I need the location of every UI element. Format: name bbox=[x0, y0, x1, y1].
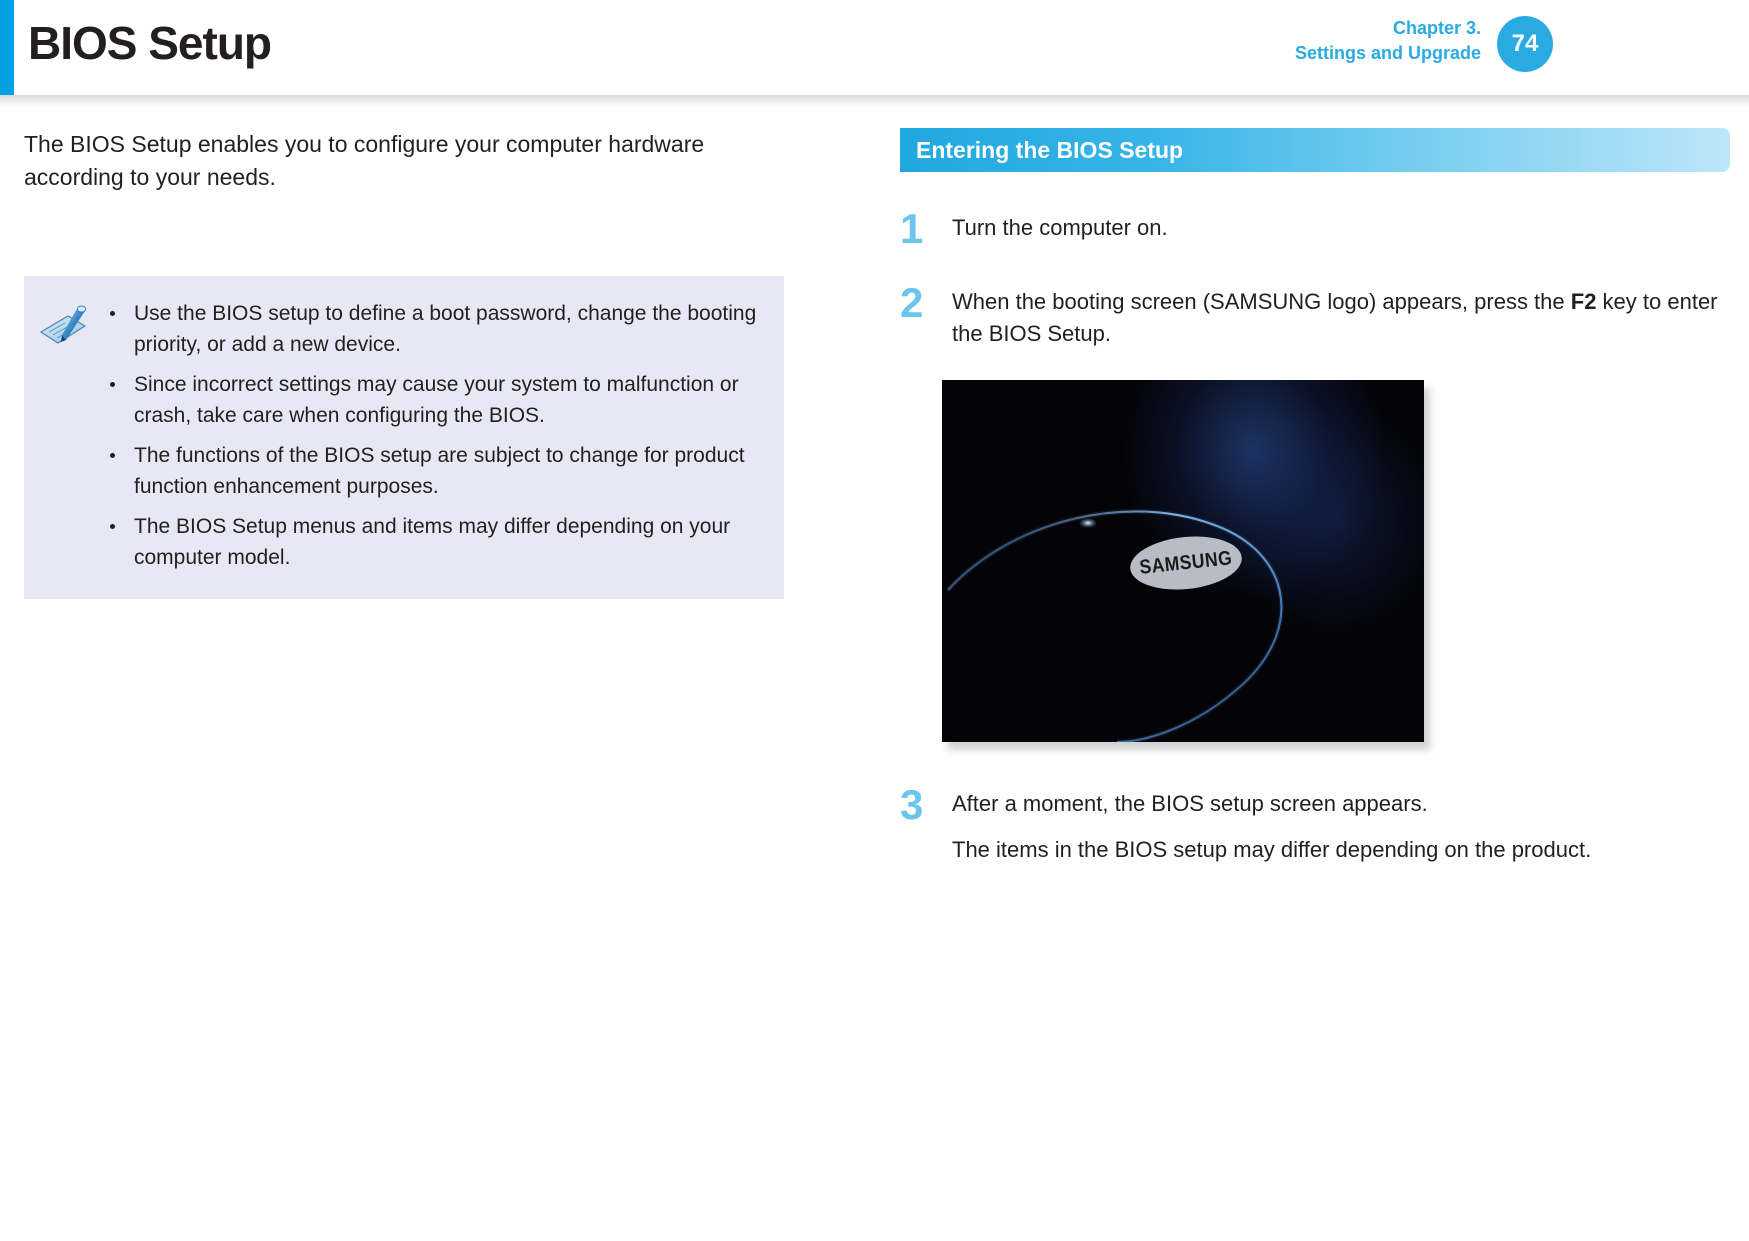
note-bullet-list: Use the BIOS setup to define a boot pass… bbox=[100, 298, 770, 573]
bullet-dot-icon bbox=[110, 382, 115, 387]
note-bullet-text: The BIOS Setup menus and items may diffe… bbox=[134, 515, 730, 569]
samsung-boot-screen: SAMSUNG bbox=[942, 380, 1424, 742]
chapter-label: Chapter 3. Settings and Upgrade bbox=[1295, 16, 1481, 66]
step-body: Turn the computer on. bbox=[952, 212, 1730, 246]
samsung-logo-text: SAMSUNG bbox=[1139, 547, 1234, 580]
step-2: 2 When the booting screen (SAMSUNG logo)… bbox=[900, 286, 1730, 350]
header-accent-bar bbox=[0, 0, 14, 95]
note-bullet-text: Use the BIOS setup to define a boot pass… bbox=[134, 302, 756, 356]
list-item: The BIOS Setup menus and items may diffe… bbox=[100, 511, 770, 573]
page-title: BIOS Setup bbox=[28, 16, 271, 70]
key-f2-label: F2 bbox=[1571, 289, 1597, 314]
header-divider bbox=[0, 95, 1749, 107]
page-number-badge: 74 bbox=[1497, 16, 1553, 72]
section-heading-title: Entering the BIOS Setup bbox=[900, 137, 1183, 164]
step-body: When the booting screen (SAMSUNG logo) a… bbox=[952, 286, 1730, 350]
note-box: Use the BIOS setup to define a boot pass… bbox=[24, 276, 784, 599]
step-number: 1 bbox=[900, 212, 952, 246]
bullet-dot-icon bbox=[110, 311, 115, 316]
left-column: The BIOS Setup enables you to configure … bbox=[24, 128, 784, 599]
step-text: After a moment, the BIOS setup screen ap… bbox=[952, 788, 1730, 820]
list-item: Use the BIOS setup to define a boot pass… bbox=[100, 298, 770, 360]
step-number: 2 bbox=[900, 286, 952, 350]
section-heading-bar: Entering the BIOS Setup bbox=[900, 128, 1730, 172]
step-body: After a moment, the BIOS setup screen ap… bbox=[952, 788, 1730, 866]
page-header: BIOS Setup Chapter 3. Settings and Upgra… bbox=[0, 0, 1749, 100]
boot-screen-image: SAMSUNG bbox=[942, 380, 1424, 742]
chapter-line-1: Chapter 3. bbox=[1295, 16, 1481, 41]
step-3: 3 After a moment, the BIOS setup screen … bbox=[900, 788, 1730, 866]
step-1: 1 Turn the computer on. bbox=[900, 212, 1730, 246]
intro-paragraph: The BIOS Setup enables you to configure … bbox=[24, 128, 784, 194]
step-text-before: When the booting screen (SAMSUNG logo) a… bbox=[952, 289, 1571, 314]
step-text: The items in the BIOS setup may differ d… bbox=[952, 834, 1730, 866]
chapter-line-2: Settings and Upgrade bbox=[1295, 41, 1481, 66]
note-bullet-text: The functions of the BIOS setup are subj… bbox=[134, 444, 745, 498]
list-item: The functions of the BIOS setup are subj… bbox=[100, 440, 770, 502]
note-pencil-icon bbox=[38, 298, 100, 573]
bullet-dot-icon bbox=[110, 453, 115, 458]
step-text: When the booting screen (SAMSUNG logo) a… bbox=[952, 286, 1730, 350]
bullet-dot-icon bbox=[110, 524, 115, 529]
step-text: Turn the computer on. bbox=[952, 212, 1730, 244]
note-bullet-text: Since incorrect settings may cause your … bbox=[134, 373, 739, 427]
step-number: 3 bbox=[900, 788, 952, 866]
list-item: Since incorrect settings may cause your … bbox=[100, 369, 770, 431]
right-column: Entering the BIOS Setup 1 Turn the compu… bbox=[900, 128, 1730, 866]
